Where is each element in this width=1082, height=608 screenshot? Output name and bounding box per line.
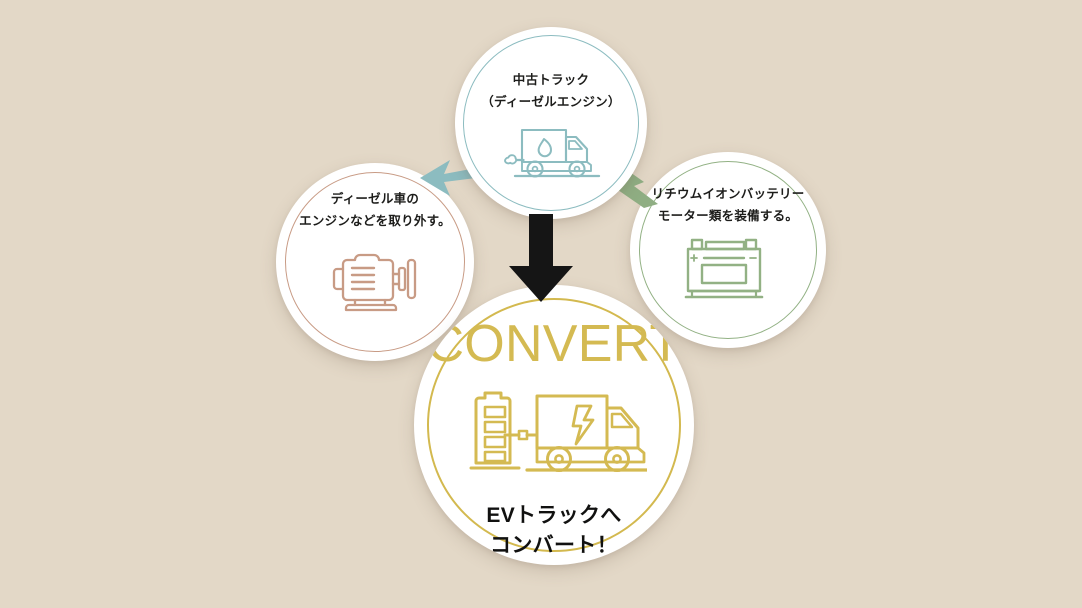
convert-headline: CONVERT	[426, 318, 681, 370]
ev-truck-charging-icon	[461, 380, 647, 489]
node-used-diesel-truck: 中古トラック （ディーゼルエンジン）	[455, 27, 647, 219]
diagram-canvas: 中古トラック （ディーゼルエンジン）	[0, 0, 1082, 608]
convert-caption: EVトラックへ コンバート！	[486, 501, 621, 561]
node-source-caption-line2: （ディーゼルエンジン）	[481, 92, 620, 114]
node-source-caption: 中古トラック （ディーゼルエンジン）	[481, 70, 620, 113]
convert-caption-line1: EVトラックへ	[486, 501, 621, 531]
node-source-caption-line1: 中古トラック	[481, 70, 620, 92]
engine-motor-icon	[325, 242, 425, 325]
node-install-caption-line1: リチウムイオンバッテリー	[651, 184, 804, 206]
diesel-truck-icon	[495, 121, 607, 188]
node-install-caption-line2: モーター類を装備する。	[651, 206, 804, 228]
arrow-down-icon	[503, 214, 579, 307]
node-install-caption: リチウムイオンバッテリー モーター類を装備する。	[651, 184, 804, 227]
node-convert-result: CONVERT	[414, 285, 694, 565]
convert-caption-line2: コンバート！	[486, 531, 621, 561]
battery-icon	[680, 235, 776, 314]
